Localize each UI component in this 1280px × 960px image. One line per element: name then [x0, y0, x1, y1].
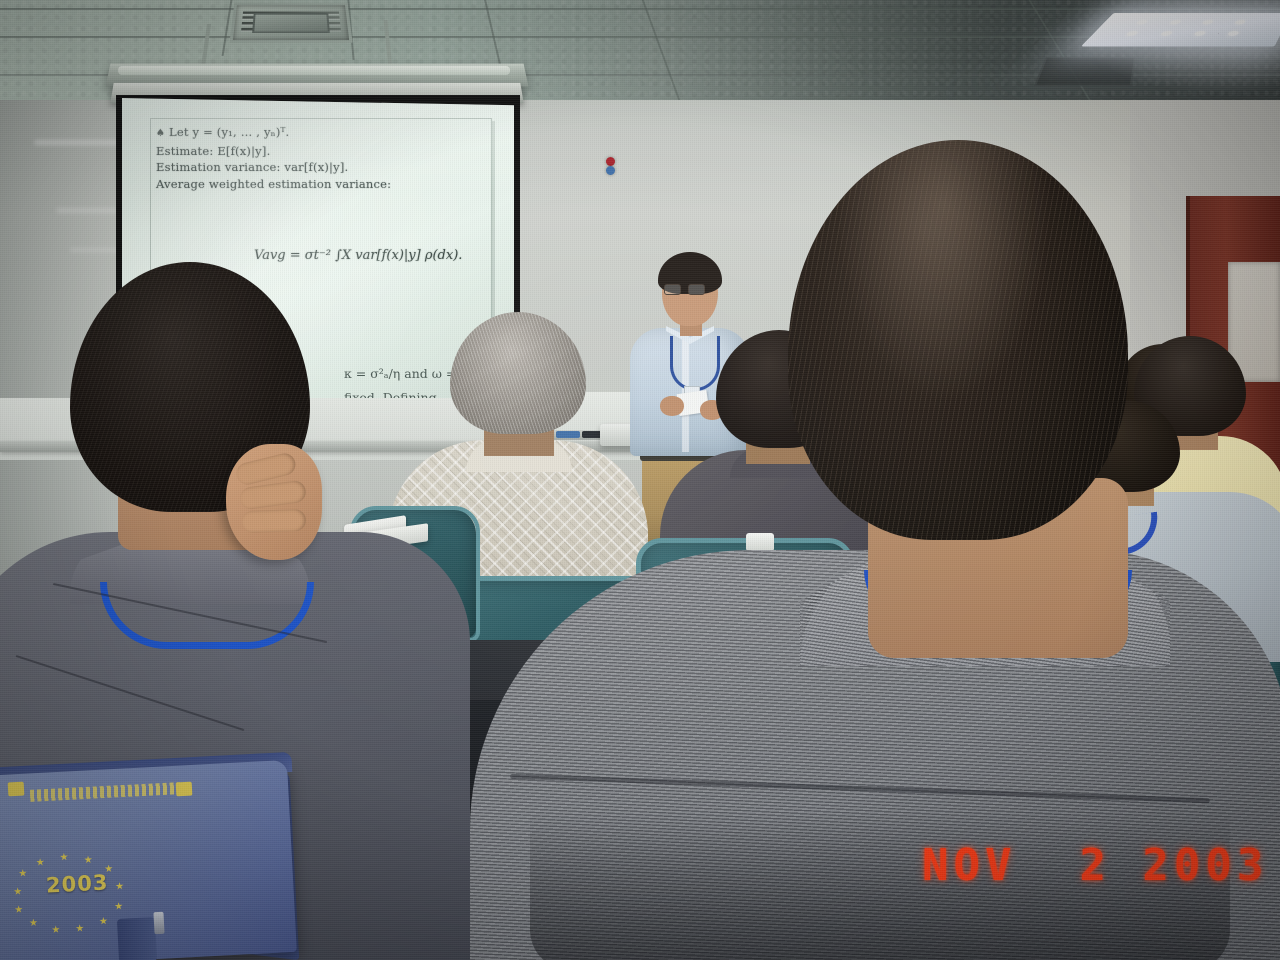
slide-line-1: ♠ Let y = (y₁, … , yₙ)ᵀ.: [156, 124, 488, 143]
conference-bag-strap[interactable]: [117, 917, 157, 960]
wall-glare-2: [56, 208, 118, 213]
foreground-attendee: [470, 110, 1280, 960]
slide-line-2: Estimate: E[f(x)|y].: [156, 143, 488, 160]
wall-glare-1: [34, 140, 122, 145]
ceiling-recessed-vent: [1034, 57, 1136, 86]
slide-line-1-text: Let y = (y₁, … , yₙ)ᵀ.: [169, 125, 289, 139]
ceiling-air-diffuser: [229, 3, 352, 43]
slide-bullet-icon: ♠: [156, 128, 165, 139]
slide-line-3: Estimation variance: var[f(x)|y].: [156, 159, 488, 176]
conference-bag-zipper-pull[interactable]: [153, 912, 164, 934]
foreground-hair-texture: [788, 140, 1128, 540]
conference-bag-emblem-right: [176, 782, 193, 797]
slide-line-4: Average weighted estimation variance:: [156, 176, 488, 193]
camera-date-stamp: NOV 2 2003: [922, 840, 1268, 891]
slide-text-block: ♠ Let y = (y₁, … , yₙ)ᵀ. Estimate: E[f(x…: [156, 124, 488, 192]
conference-bag-emblem-left: [8, 782, 25, 797]
photograph: ♠ Let y = (y₁, … , yₙ)ᵀ. Estimate: E[f(x…: [0, 0, 1280, 960]
wall-glare-3: [70, 248, 120, 252]
conference-bag-year-text: 2003: [45, 870, 109, 897]
fluorescent-tube: [118, 66, 510, 75]
slide-formula-main: Vavg = σt⁻² ∫X var[f(x)|y] ρ(dx).: [254, 248, 462, 263]
fluorescent-light-panel: [1081, 13, 1280, 47]
